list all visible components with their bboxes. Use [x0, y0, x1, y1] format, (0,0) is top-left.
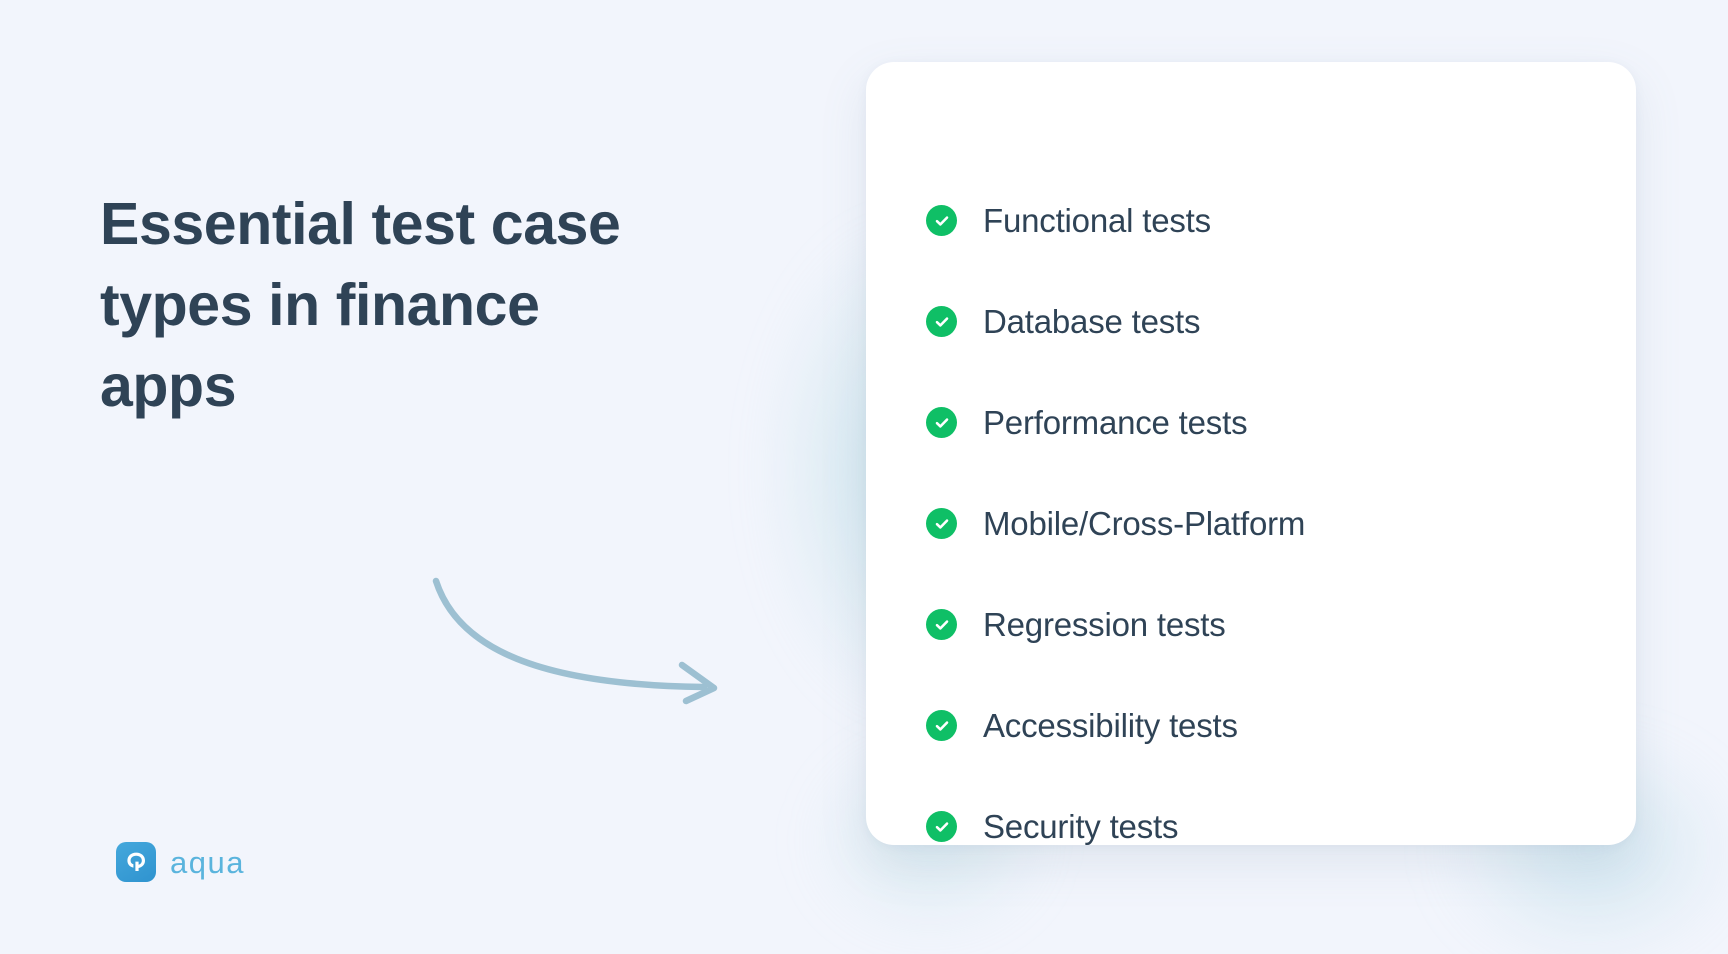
list-item-label: Regression tests — [983, 608, 1226, 641]
list-item-label: Database tests — [983, 305, 1200, 338]
page-title-line-3: apps — [100, 353, 236, 419]
aqua-wordmark: aqua — [170, 847, 245, 878]
check-circle-icon — [926, 710, 957, 741]
list-item: Database tests — [926, 271, 1636, 372]
check-circle-icon — [926, 407, 957, 438]
test-types-card: Functional tests Database tests Performa… — [866, 62, 1636, 845]
check-circle-icon — [926, 508, 957, 539]
aqua-logo: aqua — [116, 842, 245, 882]
list-item: Regression tests — [926, 574, 1636, 675]
check-circle-icon — [926, 811, 957, 842]
list-item: Mobile/Cross-Platform — [926, 473, 1636, 574]
check-circle-icon — [926, 205, 957, 236]
page-title-line-1: Essential test case — [100, 191, 620, 257]
aqua-logo-mark-icon — [116, 842, 156, 882]
list-item: Performance tests — [926, 372, 1636, 473]
test-types-list: Functional tests Database tests Performa… — [926, 170, 1636, 877]
curved-arrow-icon — [430, 575, 760, 705]
list-item: Accessibility tests — [926, 675, 1636, 776]
list-item-label: Accessibility tests — [983, 709, 1238, 742]
list-item-label: Functional tests — [983, 204, 1211, 237]
check-circle-icon — [926, 609, 957, 640]
list-item-label: Performance tests — [983, 406, 1247, 439]
page-title-line-2: types in finance — [100, 272, 540, 338]
list-item: Security tests — [926, 776, 1636, 877]
list-item: Functional tests — [926, 170, 1636, 271]
page-title: Essential test casetypes in financeapps — [100, 184, 740, 426]
check-circle-icon — [926, 306, 957, 337]
infographic-canvas: Essential test casetypes in financeapps … — [0, 0, 1728, 954]
list-item-label: Security tests — [983, 810, 1178, 843]
list-item-label: Mobile/Cross-Platform — [983, 507, 1305, 540]
